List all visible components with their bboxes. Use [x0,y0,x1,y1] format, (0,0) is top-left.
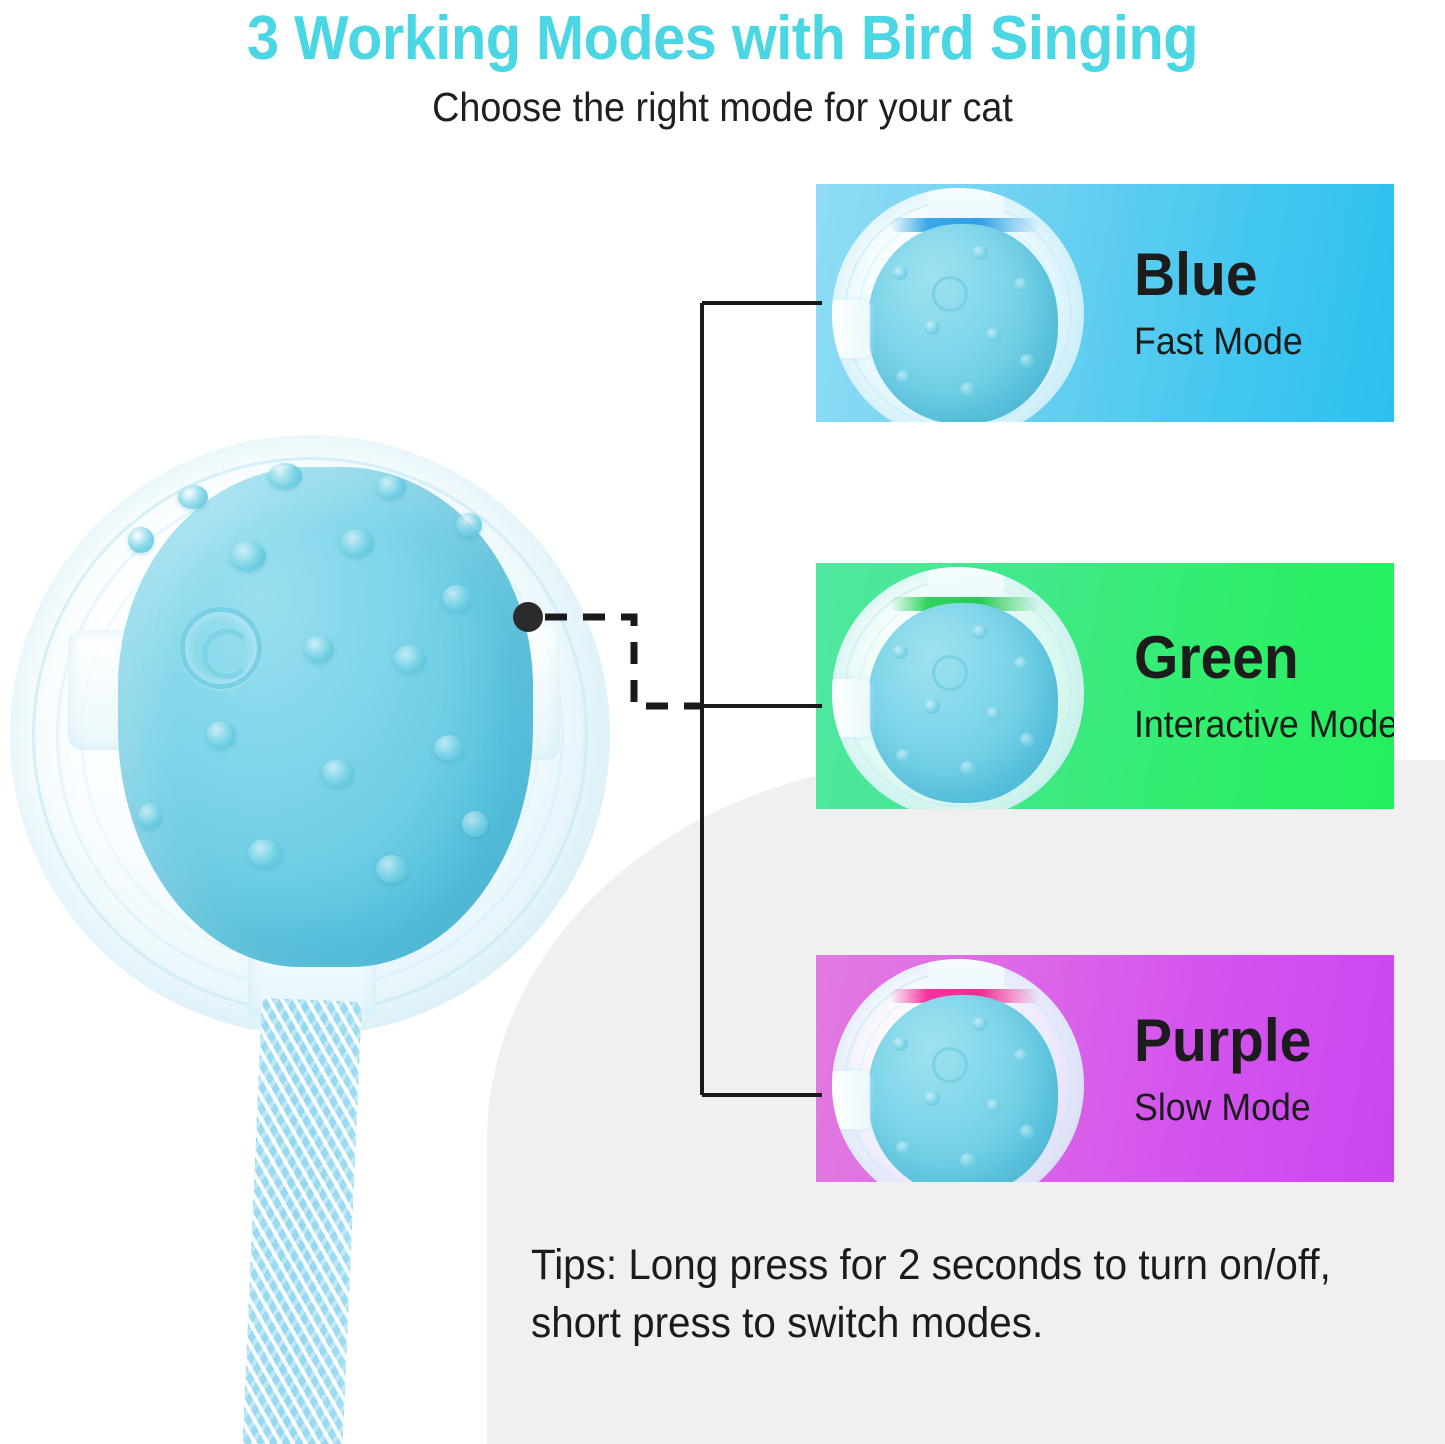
product-wand-handle [242,998,362,1444]
mode-title: Blue [1134,245,1305,305]
ball-nub [462,811,488,837]
mode-card-purple[interactable]: Purple Slow Mode [816,955,1394,1182]
mode-card-blue[interactable]: Blue Fast Mode [816,184,1394,422]
ball-nub [304,635,334,663]
page-subtitle: Choose the right mode for your cat [58,84,1387,131]
mini-ball-nub [924,1091,940,1106]
mini-ball-nub [1014,657,1029,671]
mini-product-shell [832,567,1084,809]
tips-line-2: short press to switch modes. [531,1294,1339,1352]
mini-ball-nub [892,266,908,280]
mini-ball-nub [1020,733,1034,747]
mode-card-photo-green [822,563,1122,809]
mini-ball-nub [892,645,908,659]
mini-side-port [832,1071,870,1129]
ball-nub [456,513,482,537]
mini-ball-nub [986,707,1001,721]
mode-title: Green [1134,628,1394,688]
mini-ball-nub [972,625,988,639]
infographic-page: 3 Working Modes with Bird Singing Choose… [0,0,1445,1444]
product-outer-shell [10,435,610,1035]
mini-product-shell [832,188,1084,422]
mini-product-shell [832,959,1084,1182]
mode-card-text-blue: Blue Fast Mode [1134,184,1314,422]
brand-logo-icon [180,607,262,689]
mode-title: Purple [1134,1011,1313,1071]
brand-logo-icon [932,276,968,312]
mini-ball-nub [896,1141,912,1155]
mini-ball-nub [986,1099,1001,1113]
mini-ball-nub [986,328,1001,342]
mini-silicone-ball [868,224,1058,422]
mode-card-text-green: Green Interactive Mode [1134,563,1394,809]
tips-line-1: Tips: Long press for 2 seconds to turn o… [531,1236,1339,1294]
ball-nub [138,803,162,829]
ball-nub [178,485,208,509]
ball-nub [376,855,408,883]
mode-card-green[interactable]: Green Interactive Mode [816,563,1394,809]
mini-ball-nub [1014,1049,1029,1063]
mini-ball-nub [896,370,912,384]
mini-silicone-ball [868,995,1058,1182]
mini-ball-nub [960,382,976,397]
mode-label: Interactive Mode [1134,706,1394,744]
ball-nub [376,475,406,499]
ball-nub [442,585,472,611]
ball-nub [322,759,354,787]
mini-ball-nub [896,749,912,763]
tips-block: Tips: Long press for 2 seconds to turn o… [531,1236,1391,1353]
mode-card-photo-blue [822,184,1122,422]
mode-label: Slow Mode [1134,1089,1311,1127]
mode-card-photo-purple [822,955,1122,1182]
mini-ball-nub [960,1153,976,1168]
ball-nub [434,735,464,761]
ball-nub [128,527,154,553]
mini-ball-nub [892,1037,908,1051]
ball-nub [230,541,266,571]
header: 3 Working Modes with Bird Singing Choose… [0,0,1445,131]
mini-ball-nub [972,1017,988,1031]
mode-label: Fast Mode [1134,323,1303,361]
brand-logo-icon [932,1047,968,1083]
mini-ball-nub [960,761,976,776]
ball-nub [206,721,236,749]
mode-card-text-purple: Purple Slow Mode [1134,955,1322,1182]
brand-logo-icon [932,655,968,691]
page-title: 3 Working Modes with Bird Singing [51,0,1395,70]
product-silicone-ball [118,467,533,967]
mini-ball-nub [924,699,940,714]
ball-nub [394,645,426,673]
mini-ball-nub [1020,1125,1034,1139]
mini-ball-nub [1020,354,1034,368]
mini-ball-nub [1014,278,1029,292]
ball-nub [248,839,282,867]
mini-ball-nub [924,320,940,335]
mini-side-port [832,679,870,737]
mini-silicone-ball [868,603,1058,803]
ball-nub [268,463,302,489]
mini-ball-nub [972,246,988,260]
ball-nub [340,529,374,557]
mini-side-port [832,300,870,358]
